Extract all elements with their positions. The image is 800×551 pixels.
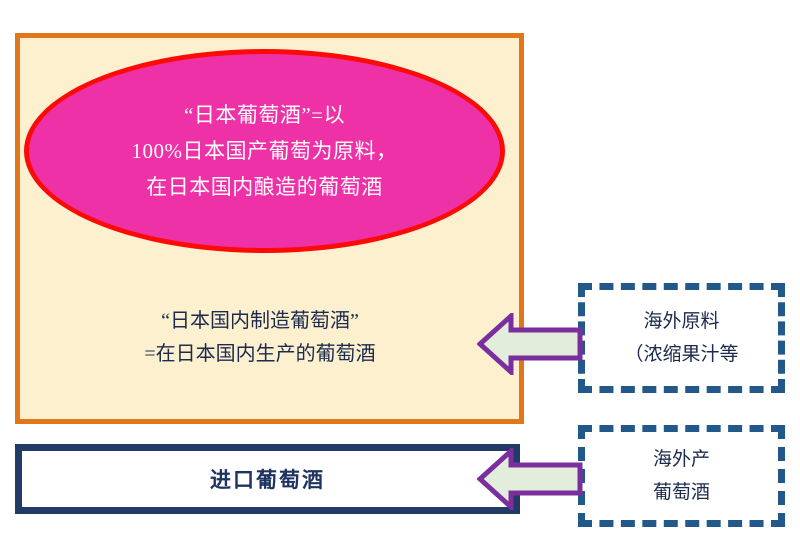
ellipse-line-2: 100%日本国产葡萄为原料， [132, 133, 398, 169]
overseas-material-line-1: 海外原料 [643, 305, 719, 338]
ellipse-line-3: 在日本国内酿造的葡萄酒 [146, 169, 383, 205]
overseas-wine-box: 海外产 葡萄酒 [578, 425, 785, 527]
overseas-material-box: 海外原料 （浓缩果汁等 [578, 283, 785, 393]
imported-wine-label: 进口葡萄酒 [210, 464, 325, 494]
diagram-canvas: “日本葡萄酒”=以 100%日本国产葡萄为原料， 在日本国内酿造的葡萄酒 “日本… [0, 0, 800, 551]
arrow-wine-to-imported [477, 448, 583, 510]
overseas-wine-line-2: 葡萄酒 [653, 476, 710, 509]
overseas-material-line-2: （浓缩果汁等 [624, 338, 738, 371]
domestic-made-line-1: “日本国内制造葡萄酒” [60, 305, 460, 338]
domestic-made-line-2: =在日本国内生产的葡萄酒 [60, 338, 460, 371]
domestic-made-text: “日本国内制造葡萄酒” =在日本国内生产的葡萄酒 [60, 305, 460, 371]
japan-wine-ellipse: “日本葡萄酒”=以 100%日本国产葡萄为原料， 在日本国内酿造的葡萄酒 [24, 49, 505, 253]
overseas-wine-line-1: 海外产 [653, 443, 710, 476]
arrow-material-to-domestic [477, 313, 583, 375]
imported-wine-panel: 进口葡萄酒 [15, 444, 520, 514]
ellipse-line-1: “日本葡萄酒”=以 [184, 97, 345, 133]
